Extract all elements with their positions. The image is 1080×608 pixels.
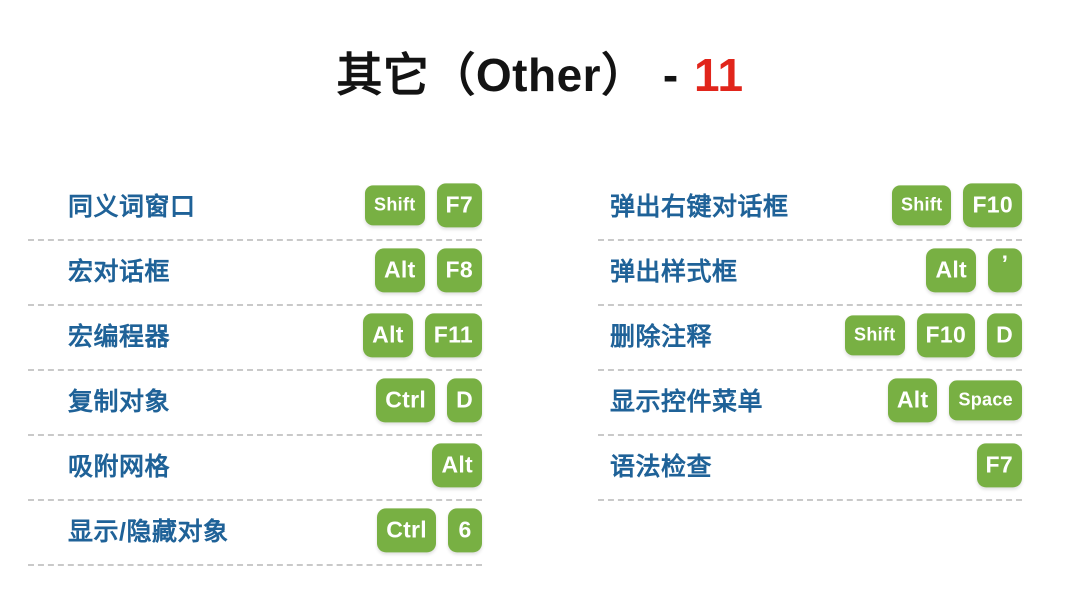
shortcut-keys: Alt [432, 443, 482, 487]
key-cap[interactable]: D [987, 313, 1022, 357]
shortcut-keys: AltSpace [888, 378, 1022, 422]
key-cap[interactable]: D [447, 378, 482, 422]
key-cap[interactable]: F10 [917, 313, 976, 357]
key-cap[interactable]: Alt [432, 443, 482, 487]
shortcut-row: 复制对象CtrlD [28, 371, 482, 436]
key-cap[interactable]: F7 [437, 183, 482, 227]
shortcut-keys: Ctrl6 [377, 508, 482, 552]
shortcut-label: 宏编程器 [68, 317, 170, 353]
shortcut-keys: ShiftF10 [892, 183, 1022, 227]
shortcut-label: 吸附网格 [68, 447, 170, 483]
shortcut-column-right: 弹出右键对话框ShiftF10弹出样式框Alt’删除注释ShiftF10D显示控… [598, 176, 1022, 501]
shortcut-row: 弹出右键对话框ShiftF10 [598, 176, 1022, 241]
shortcut-label: 宏对话框 [68, 252, 170, 288]
shortcut-column-left: 同义词窗口ShiftF7宏对话框AltF8宏编程器AltF11复制对象CtrlD… [28, 176, 482, 566]
shortcut-row: 删除注释ShiftF10D [598, 306, 1022, 371]
key-cap[interactable]: F11 [425, 313, 482, 357]
shortcut-label: 语法检查 [610, 447, 712, 483]
key-cap[interactable]: Alt [888, 378, 938, 422]
shortcut-keys: ShiftF10D [845, 313, 1022, 357]
shortcut-label: 弹出右键对话框 [610, 187, 789, 223]
key-cap[interactable]: Ctrl [377, 508, 436, 552]
shortcut-keys: ShiftF7 [365, 183, 482, 227]
shortcut-row: 宏编程器AltF11 [28, 306, 482, 371]
key-cap[interactable]: F7 [977, 443, 1022, 487]
shortcut-row: 语法检查F7 [598, 436, 1022, 501]
shortcut-row: 显示/隐藏对象Ctrl6 [28, 501, 482, 566]
shortcut-keys: AltF11 [363, 313, 482, 357]
key-cap[interactable]: Shift [892, 185, 952, 225]
page-title: 其它（Other） - 11 [0, 52, 1080, 98]
key-cap[interactable]: Ctrl [376, 378, 435, 422]
key-cap[interactable]: F10 [963, 183, 1022, 227]
key-cap[interactable]: Alt [375, 248, 425, 292]
shortcut-label: 显示控件菜单 [610, 382, 763, 418]
shortcut-row: 弹出样式框Alt’ [598, 241, 1022, 306]
key-cap[interactable]: F8 [437, 248, 482, 292]
shortcut-label: 删除注释 [610, 317, 712, 353]
shortcut-label: 同义词窗口 [68, 187, 196, 223]
key-cap[interactable]: Shift [365, 185, 425, 225]
shortcut-label: 复制对象 [68, 382, 170, 418]
key-cap[interactable]: Alt [363, 313, 413, 357]
shortcut-label: 弹出样式框 [610, 252, 738, 288]
key-cap[interactable]: Space [949, 380, 1022, 420]
shortcut-row: 同义词窗口ShiftF7 [28, 176, 482, 241]
shortcut-keys: Alt’ [926, 248, 1022, 292]
page-title-main: 其它（Other） [336, 49, 647, 101]
shortcut-row: 显示控件菜单AltSpace [598, 371, 1022, 436]
shortcut-row: 吸附网格Alt [28, 436, 482, 501]
shortcut-label: 显示/隐藏对象 [68, 512, 228, 548]
shortcut-keys: F7 [977, 443, 1022, 487]
page-title-separator: - [661, 49, 681, 101]
shortcut-row: 宏对话框AltF8 [28, 241, 482, 306]
key-cap[interactable]: 6 [448, 508, 482, 552]
key-cap[interactable]: Alt [926, 248, 976, 292]
key-cap[interactable]: Shift [845, 315, 905, 355]
shortcut-keys: CtrlD [376, 378, 482, 422]
shortcut-keys: AltF8 [375, 248, 482, 292]
page-title-count: 11 [694, 49, 744, 101]
key-cap[interactable]: ’ [988, 248, 1022, 292]
